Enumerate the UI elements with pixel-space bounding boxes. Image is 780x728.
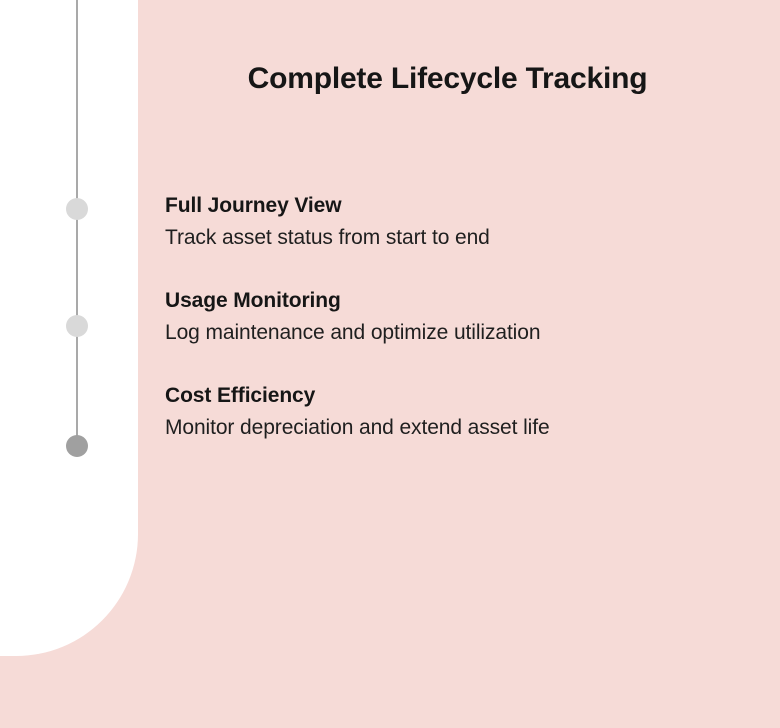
feature-item-full-journey-view: Full Journey View Track asset status fro… [165,192,765,253]
page-title: Complete Lifecycle Tracking [138,62,757,96]
feature-heading: Full Journey View [165,192,765,220]
feature-item-usage-monitoring: Usage Monitoring Log maintenance and opt… [165,287,765,348]
feature-item-cost-efficiency: Cost Efficiency Monitor depreciation and… [165,382,765,443]
slide-root: Complete Lifecycle Tracking Full Journey… [0,0,780,728]
timeline-dot-2 [66,315,88,337]
feature-heading: Cost Efficiency [165,382,765,410]
timeline-dot-3 [66,435,88,457]
content-column: Complete Lifecycle Tracking Full Journey… [138,0,780,728]
timeline-dot-1 [66,198,88,220]
feature-description: Log maintenance and optimize utilization [165,318,765,348]
feature-description: Track asset status from start to end [165,223,765,253]
feature-heading: Usage Monitoring [165,287,765,315]
timeline-rail [76,0,78,447]
feature-description: Monitor depreciation and extend asset li… [165,413,765,443]
feature-list: Full Journey View Track asset status fro… [165,192,765,477]
